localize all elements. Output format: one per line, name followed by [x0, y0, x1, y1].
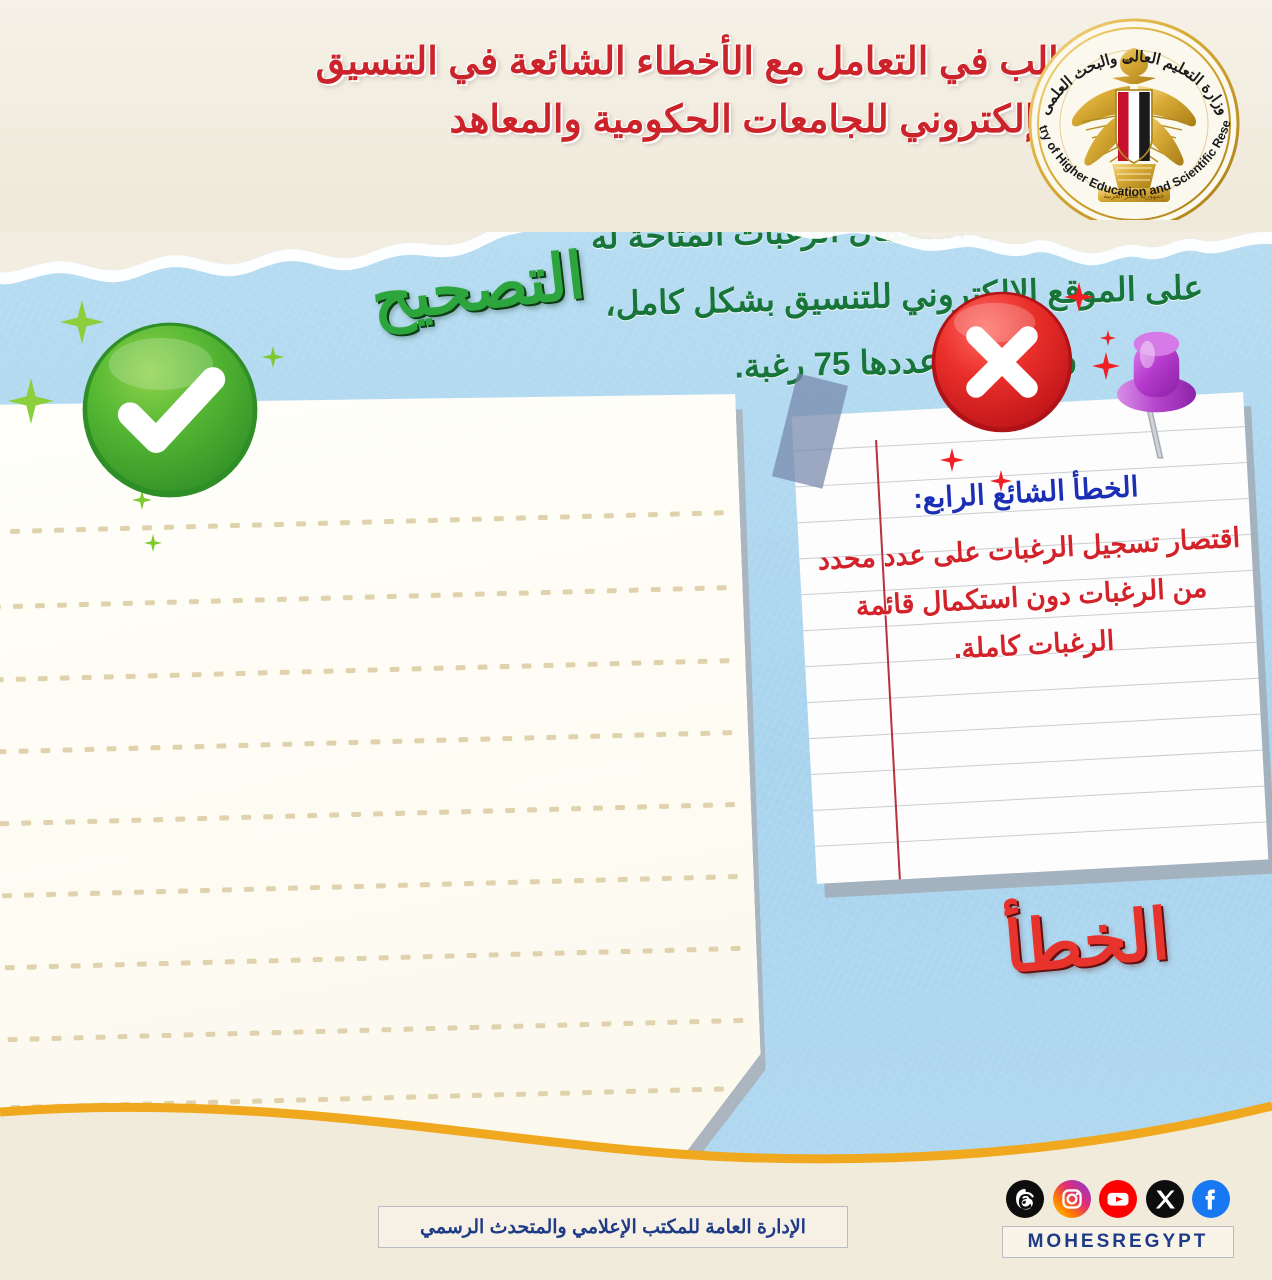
sparkle-icon — [8, 378, 54, 424]
footer-divider — [0, 1102, 1272, 1180]
media-office-label: الإدارة العامة للمكتب الإعلامي والمتحدث … — [378, 1206, 848, 1248]
x-twitter-icon[interactable] — [1146, 1180, 1184, 1218]
header-banner: دليل الطالب في التعامل مع الأخطاء الشائع… — [0, 0, 1272, 232]
social-handle-box: MOHESREGYPT — [1002, 1226, 1234, 1258]
footer-bar: الإدارة العامة للمكتب الإعلامي والمتحدث … — [0, 1168, 1272, 1280]
x-circle-icon — [928, 288, 1076, 436]
facebook-icon[interactable] — [1192, 1180, 1230, 1218]
infographic-poster: يجب على الطالب استكمال الرغبات المُتاحة … — [0, 0, 1272, 1280]
sparkle-icon — [144, 534, 162, 552]
threads-icon[interactable] — [1006, 1180, 1044, 1218]
social-handle: MOHESREGYPT — [1028, 1231, 1209, 1253]
instagram-icon[interactable] — [1053, 1180, 1091, 1218]
ministry-of-higher-education-logo: جمهورية مصر العربية وزارة التعليم العالى… — [1012, 4, 1256, 220]
social-links — [1006, 1176, 1230, 1222]
check-circle-icon — [78, 318, 262, 502]
youtube-icon[interactable] — [1099, 1180, 1137, 1218]
error-body: اقتصار تسجيل الرغبات على عدد محدد من الر… — [808, 514, 1255, 682]
pushpin-icon — [1112, 312, 1204, 464]
media-office-text: الإدارة العامة للمكتب الإعلامي والمتحدث … — [420, 1216, 806, 1239]
sparkle-icon — [990, 470, 1012, 492]
error-text-block: الخطأ الشائع الرابع: اقتصار تسجيل الرغبا… — [805, 458, 1255, 681]
sparkle-icon — [940, 448, 964, 472]
sparkle-icon — [262, 346, 284, 368]
